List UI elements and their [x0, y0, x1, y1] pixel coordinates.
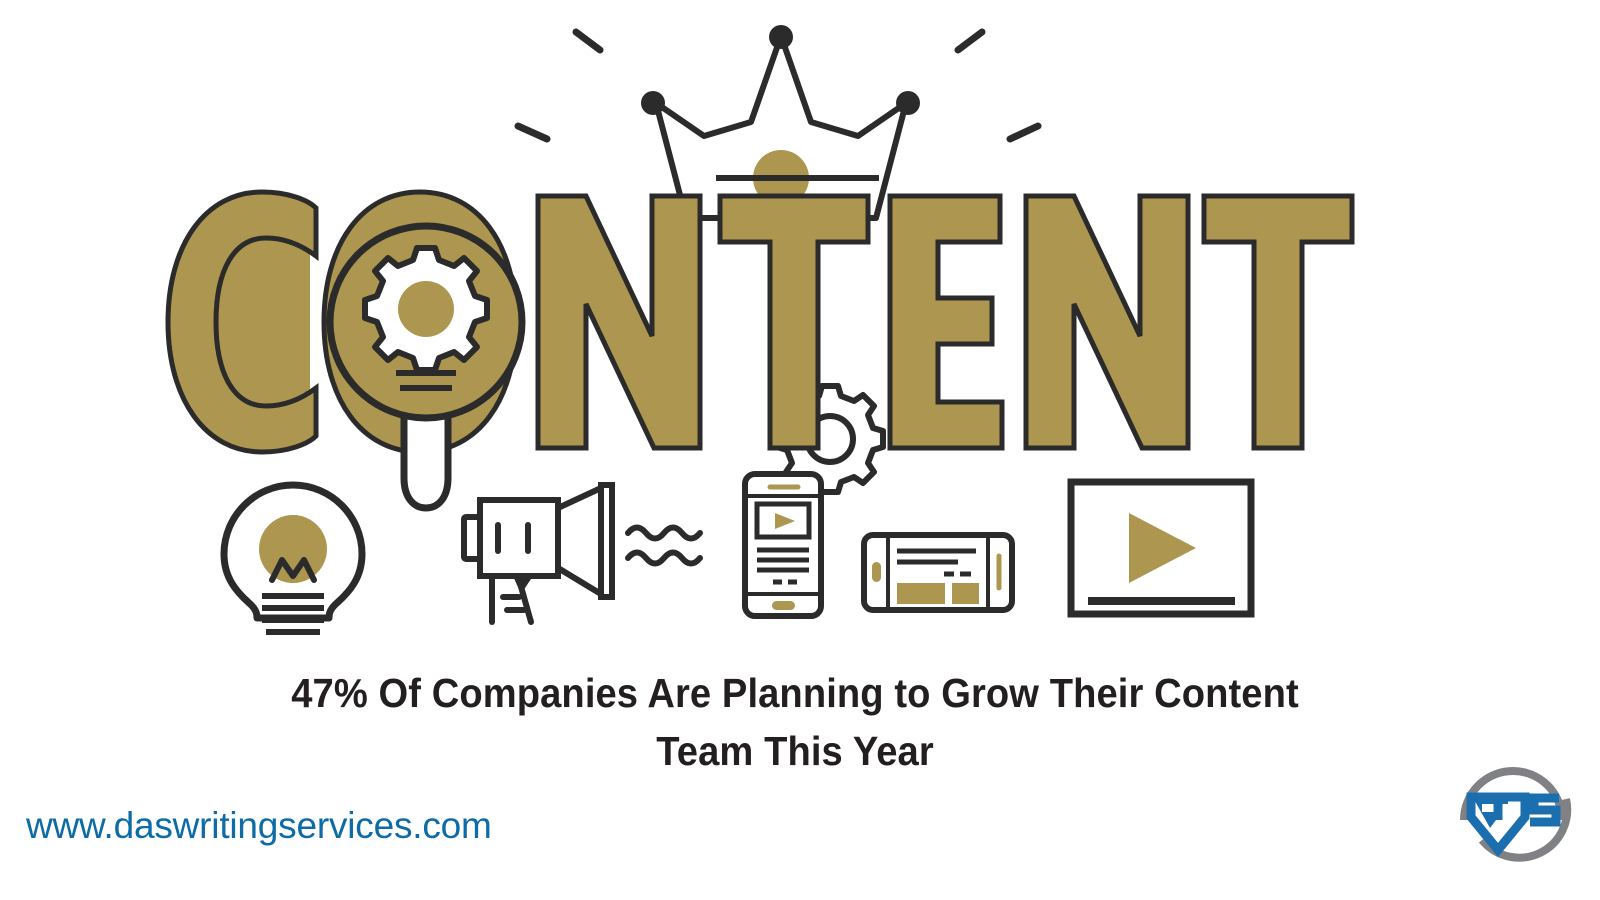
das-logo[interactable]	[1446, 742, 1580, 874]
page-title: 47% Of Companies Are Planning to Grow Th…	[195, 664, 1395, 780]
wordmark-letter-E	[890, 196, 1002, 448]
crown-tip-dot-left	[641, 91, 665, 115]
megaphone-sound-waves	[628, 528, 700, 564]
tablet-content-block-1	[897, 583, 945, 604]
wordmark-letter-N2	[1026, 196, 1188, 448]
crown-tip-dot-center	[769, 25, 793, 49]
phone-home-button	[772, 601, 795, 610]
megaphone-icon	[464, 485, 700, 622]
headline-line-2: Team This Year	[195, 722, 1395, 780]
crown-tip-dot-right	[896, 91, 920, 115]
tablet-landscape-icon	[864, 535, 1012, 610]
sparkle-icon-4	[1010, 126, 1038, 139]
tablet-home-button	[872, 562, 881, 582]
hero-illustration	[0, 0, 1600, 660]
wordmark-letter-N	[538, 196, 700, 448]
smartphone-video-icon	[745, 474, 821, 616]
tablet-content-block-2	[952, 583, 979, 604]
wordmark-letter-C	[168, 192, 316, 452]
sparkle-icon-3	[958, 32, 982, 50]
sparkle-icon-1	[576, 32, 600, 50]
wordmark-letter-T2	[1204, 196, 1352, 448]
lightbulb-icon	[224, 485, 362, 632]
magnifying-glass-icon	[330, 226, 522, 508]
website-url[interactable]: www.daswritingservices.com	[26, 805, 492, 847]
sparkle-icon-2	[518, 126, 547, 139]
crown-icon	[641, 25, 920, 218]
monitor-video-player-icon	[1071, 482, 1251, 614]
headline-line-1: 47% Of Companies Are Planning to Grow Th…	[195, 664, 1395, 722]
graphic-canvas: 47% Of Companies Are Planning to Grow Th…	[0, 0, 1600, 900]
monitor-stand-bar	[1088, 597, 1235, 605]
